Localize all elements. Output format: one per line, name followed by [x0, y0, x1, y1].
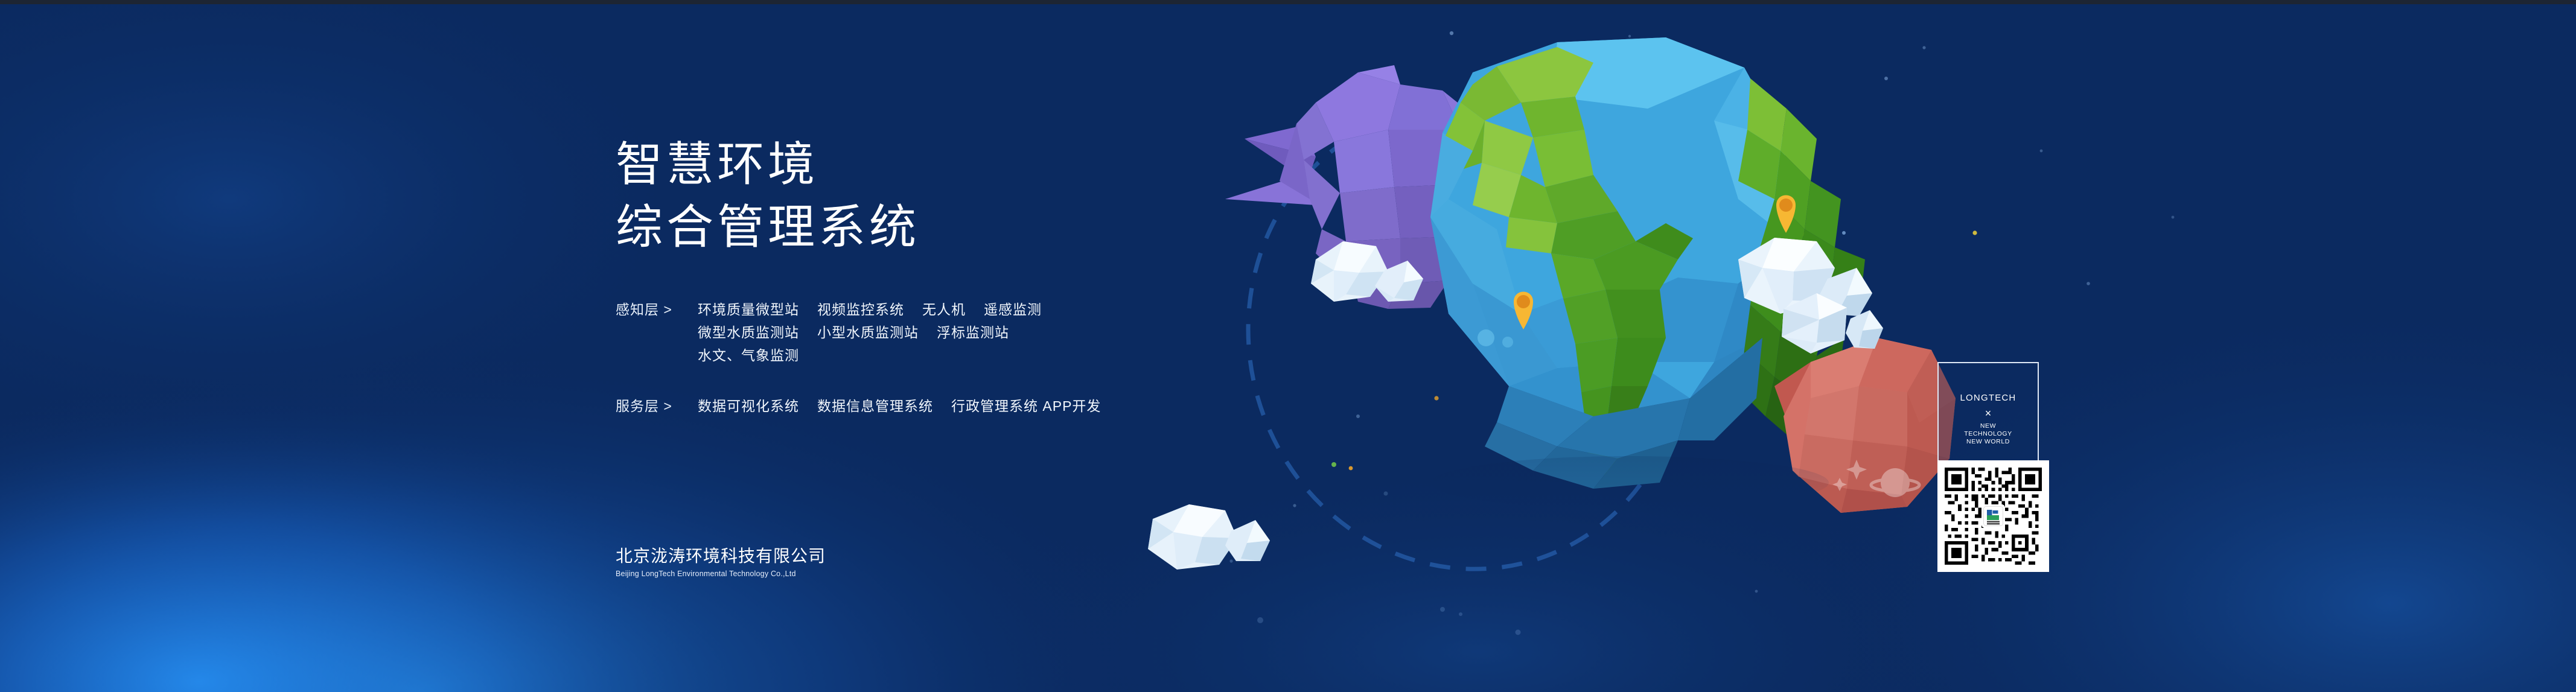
company-name-cn: 北京泷涛环境科技有限公司	[616, 546, 826, 567]
cloud-bottom	[1148, 504, 1270, 570]
layer-item[interactable]: 行政管理系统 APP开发	[951, 395, 1101, 417]
hero-text-column: 智慧环境 综合管理系统 感知层 > 环境质量微型站 视频监控系统 无人机 遥感监…	[616, 133, 1219, 445]
brand-frame: LONGTECH × NEW TECHNOLOGY NEW WORLD	[1937, 362, 2039, 475]
layer-item[interactable]: 视频监控系统	[817, 298, 904, 321]
layer-row-perception: 感知层 > 环境质量微型站 视频监控系统 无人机 遥感监测 微型水质监测站 小型…	[616, 298, 1219, 367]
layer-row-service: 服务层 > 数据可视化系统 数据信息管理系统 行政管理系统 APP开发	[616, 395, 1219, 417]
layer-item[interactable]: 小型水质监测站	[817, 321, 919, 344]
tagline-line-2: TECHNOLOGY	[1964, 430, 2012, 438]
layer-item[interactable]: 遥感监测	[984, 298, 1042, 321]
layer-item[interactable]: 浮标监测站	[937, 321, 1009, 344]
layer-line: 环境质量微型站 视频监控系统 无人机 遥感监测	[698, 298, 1042, 321]
layer-label-perception[interactable]: 感知层 >	[616, 298, 698, 321]
layer-item[interactable]: 微型水质监测站	[698, 321, 799, 344]
layer-line: 水文、气象监测	[698, 344, 1042, 367]
layer-item[interactable]: 数据可视化系统	[698, 395, 799, 417]
tagline-line-1: NEW	[1980, 422, 1996, 430]
layer-item[interactable]: 水文、气象监测	[698, 344, 799, 367]
qr-code-icon	[1945, 468, 2042, 565]
layer-list: 感知层 > 环境质量微型站 视频监控系统 无人机 遥感监测 微型水质监测站 小型…	[616, 298, 1219, 417]
cross-icon: ×	[1985, 404, 1992, 422]
headline-line-2: 综合管理系统	[616, 195, 1219, 258]
hero-banner: 智慧环境 综合管理系统 感知层 > 环境质量微型站 视频监控系统 无人机 遥感监…	[0, 0, 2576, 692]
qr-card: LONGTECH × NEW TECHNOLOGY NEW WORLD	[1937, 362, 2049, 573]
brand-name: LONGTECH	[1960, 392, 2016, 404]
layer-items-service: 数据可视化系统 数据信息管理系统 行政管理系统 APP开发	[698, 395, 1101, 417]
tagline-line-3: NEW WORLD	[1966, 438, 2010, 446]
layer-line: 微型水质监测站 小型水质监测站 浮标监测站	[698, 321, 1042, 344]
layer-items-perception: 环境质量微型站 视频监控系统 无人机 遥感监测 微型水质监测站 小型水质监测站 …	[698, 298, 1042, 367]
qr-code[interactable]	[1937, 460, 2049, 572]
layer-line: 数据可视化系统 数据信息管理系统 行政管理系统 APP开发	[698, 395, 1101, 417]
layer-item[interactable]: 无人机	[922, 298, 966, 321]
headline-line-1: 智慧环境	[616, 133, 1219, 195]
top-edge-strip	[0, 0, 2576, 4]
layer-item[interactable]: 环境质量微型站	[698, 298, 799, 321]
layer-label-service[interactable]: 服务层 >	[616, 395, 698, 417]
company-signature: 北京泷涛环境科技有限公司 Beijing LongTech Environmen…	[616, 546, 826, 579]
layer-item[interactable]: 数据信息管理系统	[817, 395, 933, 417]
company-name-en: Beijing LongTech Environmental Technolog…	[616, 568, 826, 579]
